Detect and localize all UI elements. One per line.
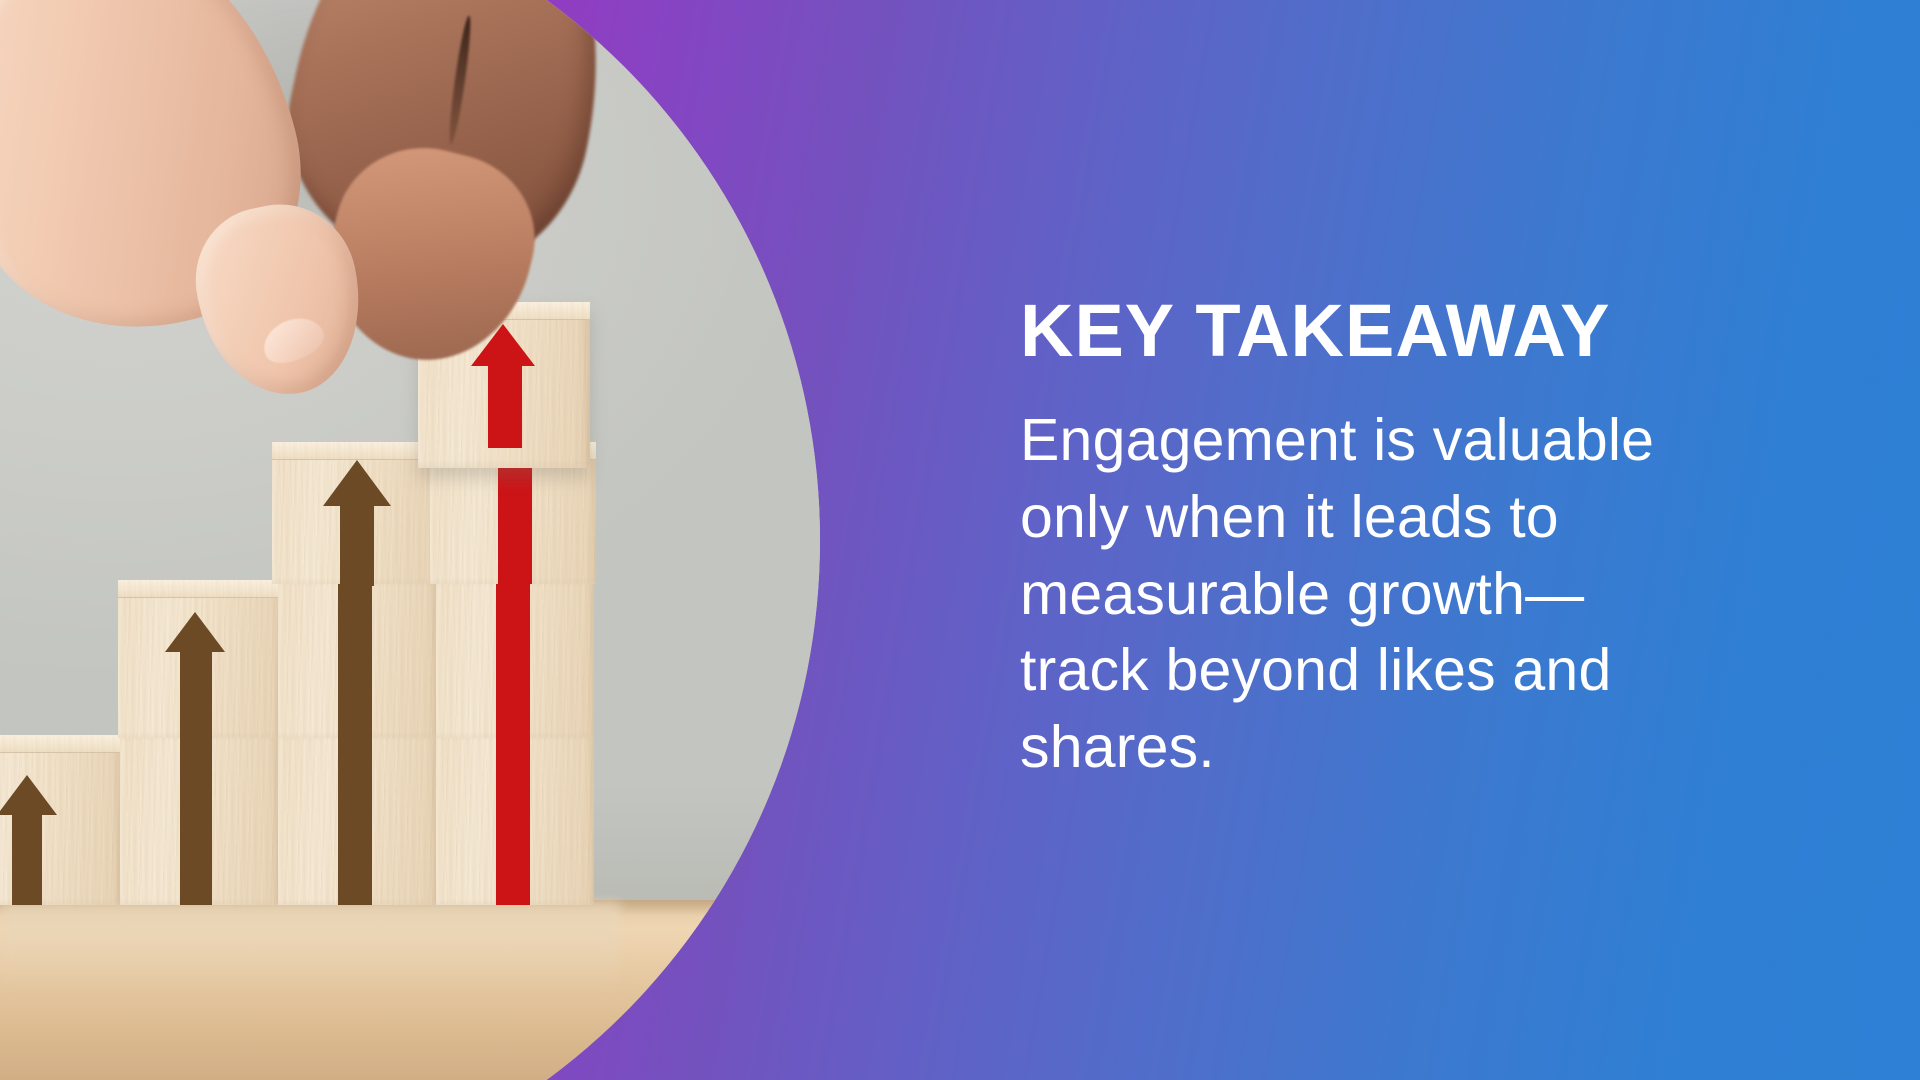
growth-blocks-photo [0, 0, 820, 1080]
brown-up-arrow-shaft-3-middle [338, 580, 372, 738]
step-4-block-middle [436, 580, 594, 738]
photo-circle-mask [0, 0, 820, 1080]
step-2-block-lower [120, 735, 278, 905]
red-up-stripe-lower [496, 735, 530, 905]
step-1-block [0, 735, 120, 905]
body-line-1: Engagement is valuable [1020, 402, 1810, 479]
brown-up-arrow-head-3 [323, 460, 391, 506]
step-3-block-lower [278, 735, 436, 905]
brown-up-arrow-head-1 [0, 775, 57, 815]
brown-up-arrow-head-2 [165, 612, 225, 652]
step-3-block-middle [278, 580, 436, 738]
brown-up-arrow-shaft-2-lower [180, 735, 212, 905]
brown-up-arrow-shaft-3 [340, 502, 374, 586]
step-2-block-upper [118, 580, 280, 738]
brown-up-arrow-shaft-1 [12, 813, 42, 905]
slide-canvas: KEY TAKEAWAY Engagement is valuable only… [0, 0, 1920, 1080]
takeaway-body: Engagement is valuable only when it lead… [1020, 402, 1810, 785]
photo-table-reflection [0, 902, 620, 992]
brown-up-arrow-shaft-2 [180, 650, 212, 740]
brown-up-arrow-shaft-3-lower [338, 735, 372, 905]
step-4-block-lower [436, 735, 594, 905]
text-column: KEY TAKEAWAY Engagement is valuable only… [1020, 0, 1850, 1080]
body-line-3: measurable growth— [1020, 556, 1810, 633]
red-up-stripe-middle [496, 580, 530, 738]
hand-holding-block [0, 0, 700, 410]
body-line-5: shares. [1020, 709, 1810, 786]
body-line-2: only when it leads to [1020, 479, 1810, 556]
body-line-4: track beyond likes and [1020, 632, 1810, 709]
step-3-block-upper [272, 442, 438, 584]
page-title: KEY TAKEAWAY [1020, 294, 1810, 368]
